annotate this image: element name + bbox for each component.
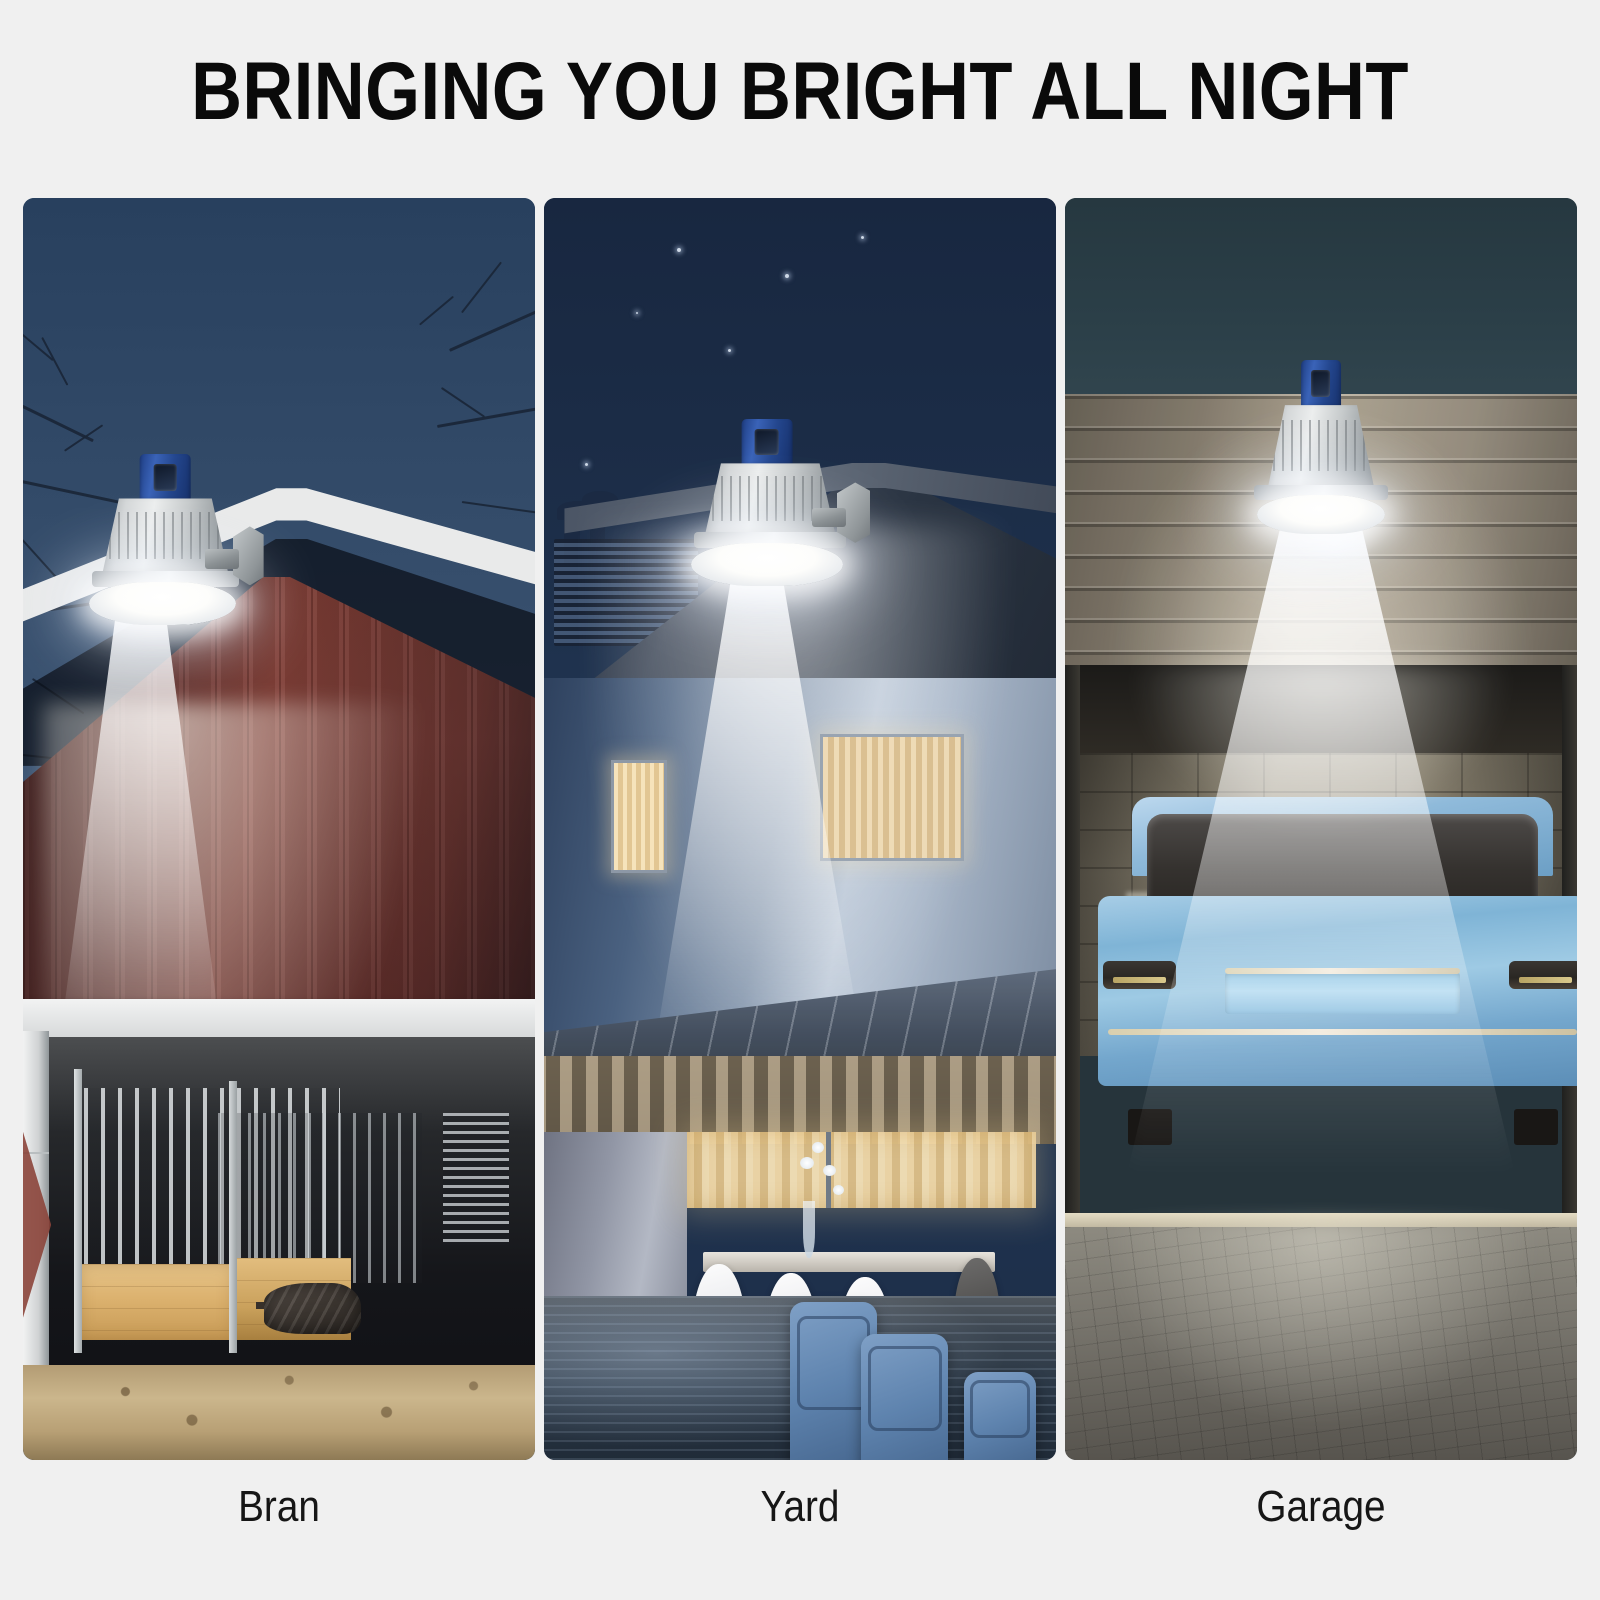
driveway-light-pool <box>1096 1220 1547 1435</box>
patio-glass-doors <box>687 1132 1035 1208</box>
draped-tarp <box>264 1283 361 1334</box>
led-barn-light-fixture <box>1254 360 1387 529</box>
photocell-sensor <box>140 454 191 503</box>
upper-window-right <box>820 734 963 860</box>
page-title: BRINGING YOU BRIGHT ALL NIGHT <box>112 46 1488 138</box>
mounting-arm <box>205 549 239 569</box>
tire-left <box>1128 1109 1172 1145</box>
photocell-sensor <box>742 419 793 468</box>
product-feature-image: BRINGING YOU BRIGHT ALL NIGHT <box>0 0 1600 1600</box>
door-header-trim <box>23 999 535 1042</box>
floor-debris <box>23 1346 535 1460</box>
photocell-sensor <box>1301 360 1341 411</box>
taillight-strip-left <box>1113 977 1166 983</box>
scene-panel-yard <box>544 198 1056 1460</box>
caption-garage: Garage <box>1096 1482 1547 1532</box>
scene-panel-garage <box>1065 198 1577 1460</box>
scene-panel-barn <box>23 198 535 1460</box>
caption-yard: Yard <box>575 1482 1026 1532</box>
heat-sink-fins <box>1273 420 1369 472</box>
car-body <box>1098 896 1577 1086</box>
led-barn-light-fixture <box>89 454 243 618</box>
stall-post <box>229 1081 237 1352</box>
scene-panel-strip <box>23 198 1577 1460</box>
wall-vent-grille <box>443 1113 510 1246</box>
upper-window-left <box>611 760 667 874</box>
ceiling-light-wash <box>1137 665 1506 829</box>
taillight-left <box>1103 961 1176 990</box>
wood-stall-panel <box>79 1264 233 1340</box>
finned-housing <box>1266 405 1375 495</box>
mounting-arm <box>812 508 847 527</box>
diffuser-lens <box>89 582 236 625</box>
dining-table <box>703 1252 995 1272</box>
stall-post-left <box>74 1069 82 1353</box>
taillight-right <box>1509 961 1577 990</box>
caption-barn: Bran <box>54 1482 505 1532</box>
finned-housing <box>704 463 837 541</box>
license-plate-recess <box>1225 972 1460 1014</box>
patio-side-wall <box>544 1132 687 1321</box>
diffuser-lens <box>1257 495 1385 534</box>
chrome-trim-lower <box>1108 1029 1577 1035</box>
light-blue-car-rear <box>1098 797 1577 1125</box>
garage-jamb-left <box>1065 665 1080 1233</box>
led-barn-light-fixture <box>692 419 851 578</box>
taillight-strip-right <box>1519 977 1572 983</box>
tire-right <box>1514 1109 1558 1145</box>
flower-vase <box>803 1201 815 1258</box>
diffuser-lens <box>691 543 843 586</box>
chrome-trim-upper <box>1225 968 1460 974</box>
panel-captions: Bran Yard Garage <box>23 1482 1577 1532</box>
